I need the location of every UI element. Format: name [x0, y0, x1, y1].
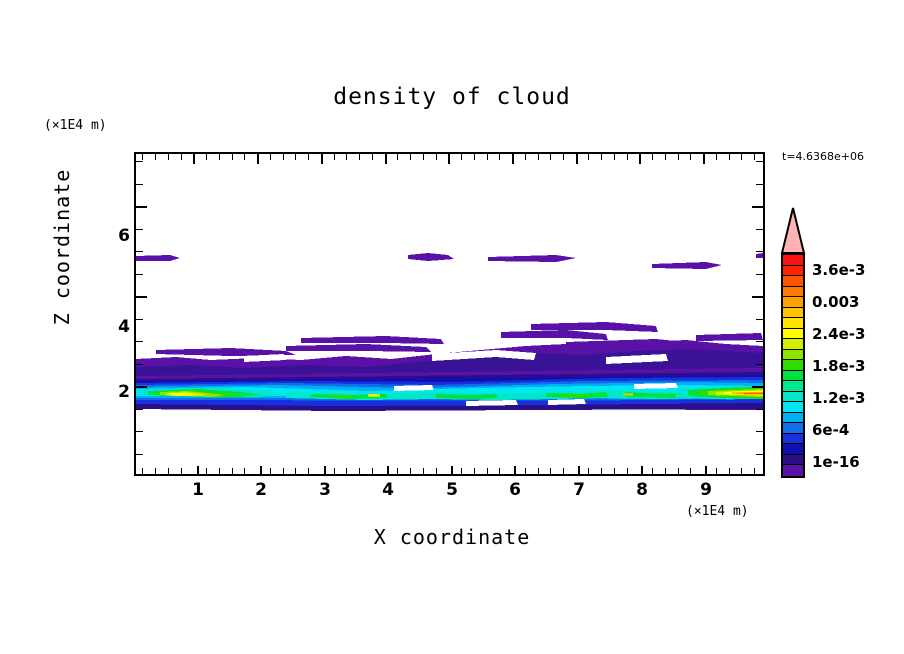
x-minor-tick	[397, 468, 398, 474]
colorbar-band	[783, 329, 803, 340]
x-minor-tick-top	[397, 154, 398, 160]
x-minor-tick	[168, 468, 169, 474]
x-minor-tick	[334, 468, 335, 474]
y-major-tick	[136, 296, 147, 298]
y-minor-tick-right	[756, 274, 763, 275]
x-major-tick	[514, 466, 516, 476]
x-minor-tick-top	[168, 154, 169, 160]
x-minor-tick-top	[372, 154, 373, 160]
x-minor-tick	[487, 468, 488, 474]
y-minor-tick-right	[756, 454, 763, 455]
x-minor-tick	[142, 468, 143, 474]
x-minor-tick	[538, 468, 539, 474]
x-minor-tick-top	[359, 154, 360, 160]
x-minor-tick-top	[538, 154, 539, 160]
colorbar-band	[783, 371, 803, 382]
x-minor-tick	[627, 468, 628, 474]
x-minor-tick-top	[588, 154, 589, 160]
x-major-tick-top	[193, 154, 195, 164]
colorbar-band	[783, 287, 803, 298]
x-tick-label: 6	[500, 480, 530, 500]
y-minor-tick-right	[756, 184, 763, 185]
x-minor-tick-top	[423, 154, 424, 160]
y-tick-label: 2	[104, 382, 130, 402]
contour-field	[136, 154, 763, 474]
x-minor-tick	[601, 468, 602, 474]
colorbar-band	[783, 392, 803, 403]
x-tick-label: 7	[564, 480, 594, 500]
colorbar-band	[783, 318, 803, 329]
x-minor-tick	[754, 468, 755, 474]
x-major-tick-top	[257, 154, 259, 164]
x-minor-tick	[423, 468, 424, 474]
x-tick-label: 3	[310, 480, 340, 500]
x-minor-tick-top	[155, 154, 156, 160]
y-axis-title: Z coordinate	[50, 167, 74, 327]
x-minor-tick	[181, 468, 182, 474]
y-tick-label: 4	[104, 317, 130, 337]
x-minor-tick-top	[487, 154, 488, 160]
x-minor-tick-top	[627, 154, 628, 160]
x-minor-tick	[295, 468, 296, 474]
x-minor-tick-top	[181, 154, 182, 160]
x-minor-tick	[525, 468, 526, 474]
x-minor-tick-top	[563, 154, 564, 160]
x-major-tick	[324, 466, 326, 476]
x-minor-tick-top	[614, 154, 615, 160]
x-minor-tick	[206, 468, 207, 474]
x-minor-tick	[359, 468, 360, 474]
x-tick-label: 9	[691, 480, 721, 500]
x-minor-tick	[729, 468, 730, 474]
x-minor-tick-top	[436, 154, 437, 160]
y-major-tick	[136, 206, 147, 208]
y-minor-tick	[136, 319, 143, 320]
colorbar-label: 0.003	[812, 293, 859, 311]
x-minor-tick	[741, 468, 742, 474]
y-minor-tick-right	[756, 341, 763, 342]
x-minor-tick	[308, 468, 309, 474]
x-minor-tick-top	[142, 154, 143, 160]
x-major-tick	[451, 466, 453, 476]
colorbar-label: 1e-16	[812, 453, 860, 471]
x-minor-tick-top	[308, 154, 309, 160]
x-minor-tick	[270, 468, 271, 474]
x-minor-tick-top	[499, 154, 500, 160]
x-tick-label: 1	[183, 480, 213, 500]
colorbar-label: 2.4e-3	[812, 325, 865, 343]
x-minor-tick	[499, 468, 500, 474]
x-minor-tick-top	[741, 154, 742, 160]
x-minor-tick	[665, 468, 666, 474]
x-minor-tick-top	[690, 154, 691, 160]
colorbar-band	[783, 434, 803, 445]
x-minor-tick-top	[270, 154, 271, 160]
colorbar-band	[783, 444, 803, 455]
x-minor-tick-top	[652, 154, 653, 160]
x-major-tick	[641, 466, 643, 476]
y-minor-tick-right	[756, 364, 763, 365]
x-minor-tick	[716, 468, 717, 474]
colorbar-band	[783, 308, 803, 319]
x-minor-tick	[219, 468, 220, 474]
colorbar-label: 1.8e-3	[812, 357, 865, 375]
x-minor-tick-top	[474, 154, 475, 160]
x-tick-label: 5	[437, 480, 467, 500]
x-minor-tick	[550, 468, 551, 474]
x-minor-tick	[283, 468, 284, 474]
y-major-tick-right	[752, 386, 763, 388]
y-minor-tick	[136, 274, 143, 275]
y-minor-tick-right	[756, 229, 763, 230]
x-minor-tick-top	[716, 154, 717, 160]
x-minor-tick	[690, 468, 691, 474]
x-major-tick	[197, 466, 199, 476]
x-minor-tick	[410, 468, 411, 474]
x-major-tick	[260, 466, 262, 476]
colorbar-band	[783, 381, 803, 392]
colorbar-band	[783, 413, 803, 424]
x-minor-tick	[652, 468, 653, 474]
colorbar-band	[783, 297, 803, 308]
colorbar-label: 6e-4	[812, 421, 849, 439]
y-major-tick-right	[752, 296, 763, 298]
y-minor-tick	[136, 364, 143, 365]
x-minor-tick	[588, 468, 589, 474]
y-major-tick	[136, 386, 147, 388]
x-major-tick-top	[639, 154, 641, 164]
x-major-tick-top	[512, 154, 514, 164]
x-minor-tick	[155, 468, 156, 474]
x-minor-tick-top	[346, 154, 347, 160]
colorbar-band	[783, 423, 803, 434]
x-minor-tick-top	[525, 154, 526, 160]
x-major-tick	[705, 466, 707, 476]
colorbar-over-arrow	[779, 206, 807, 254]
y-minor-tick	[136, 454, 143, 455]
y-minor-tick-right	[756, 409, 763, 410]
x-tick-label: 8	[627, 480, 657, 500]
colorbar-band	[783, 255, 803, 266]
x-minor-tick-top	[206, 154, 207, 160]
x-minor-tick	[614, 468, 615, 474]
y-minor-tick	[136, 431, 143, 432]
colorbar-band	[783, 266, 803, 277]
colorbar-label: 3.6e-3	[812, 261, 865, 279]
x-minor-tick-top	[550, 154, 551, 160]
colorbar-label: 1.2e-3	[812, 389, 865, 407]
colorbar-band	[783, 465, 803, 476]
x-minor-tick-top	[461, 154, 462, 160]
x-minor-tick-top	[334, 154, 335, 160]
colorbar[interactable]	[781, 253, 805, 478]
y-minor-tick	[136, 341, 143, 342]
x-minor-tick	[436, 468, 437, 474]
x-minor-tick-top	[678, 154, 679, 160]
y-minor-tick	[136, 409, 143, 410]
x-minor-tick-top	[232, 154, 233, 160]
y-tick-label: 6	[104, 226, 130, 246]
x-minor-tick-top	[283, 154, 284, 160]
x-minor-tick	[372, 468, 373, 474]
x-minor-tick	[474, 468, 475, 474]
colorbar-band	[783, 360, 803, 371]
x-minor-tick-top	[295, 154, 296, 160]
y-minor-tick-right	[756, 319, 763, 320]
y-minor-tick	[136, 251, 143, 252]
y-minor-tick	[136, 229, 143, 230]
colorbar-band	[783, 276, 803, 287]
x-tick-label: 2	[246, 480, 276, 500]
x-minor-tick-top	[601, 154, 602, 160]
x-major-tick-top	[448, 154, 450, 164]
colorbar-band	[783, 350, 803, 361]
x-minor-tick-top	[729, 154, 730, 160]
x-major-tick	[578, 466, 580, 476]
x-major-tick-top	[576, 154, 578, 164]
x-minor-tick	[232, 468, 233, 474]
x-minor-tick-top	[244, 154, 245, 160]
x-minor-tick	[678, 468, 679, 474]
y-minor-tick	[136, 161, 143, 162]
page-title: density of cloud	[0, 84, 904, 110]
y-minor-tick	[136, 184, 143, 185]
colorbar-band	[783, 402, 803, 413]
colorbar-band	[783, 455, 803, 466]
time-annotation: t=4.6368e+06	[782, 150, 864, 163]
x-minor-tick-top	[665, 154, 666, 160]
x-minor-tick	[563, 468, 564, 474]
x-minor-tick-top	[219, 154, 220, 160]
x-axis-unit-label: (×1E4 m)	[686, 504, 749, 519]
x-minor-tick	[244, 468, 245, 474]
x-minor-tick-top	[754, 154, 755, 160]
x-major-tick-top	[385, 154, 387, 164]
y-major-tick-right	[752, 206, 763, 208]
x-axis-title: X coordinate	[0, 525, 904, 549]
x-major-tick	[387, 466, 389, 476]
x-major-tick-top	[703, 154, 705, 164]
colorbar-band	[783, 339, 803, 350]
y-minor-tick-right	[756, 251, 763, 252]
x-minor-tick	[461, 468, 462, 474]
y-minor-tick-right	[756, 161, 763, 162]
x-tick-label: 4	[373, 480, 403, 500]
x-major-tick-top	[321, 154, 323, 164]
x-minor-tick-top	[410, 154, 411, 160]
y-axis-unit-label: (×1E4 m)	[44, 118, 107, 133]
y-minor-tick-right	[756, 431, 763, 432]
x-minor-tick	[346, 468, 347, 474]
